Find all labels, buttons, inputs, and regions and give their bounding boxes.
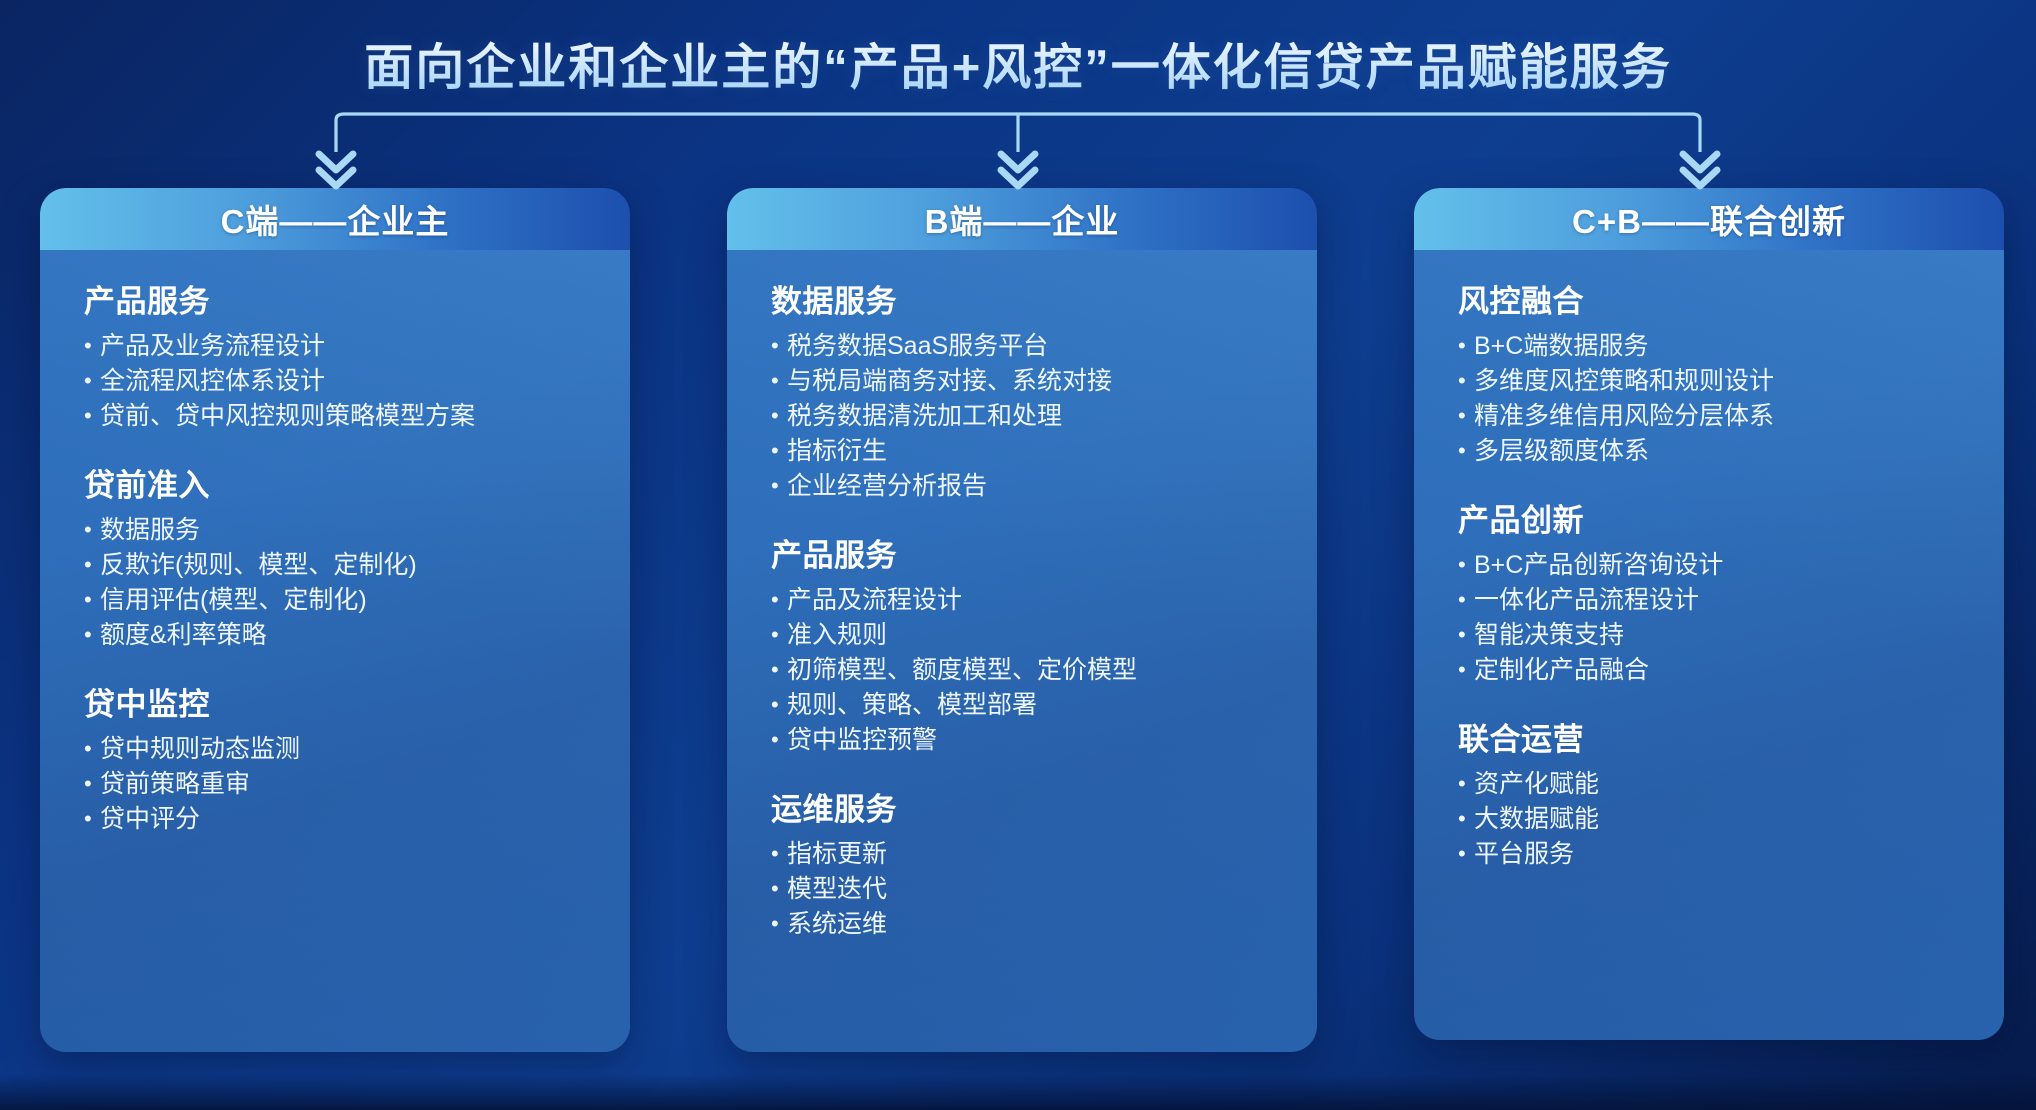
- section: 风控融合 B+C端数据服务 多维度风控策略和规则设计 精准多维信用风险分层体系 …: [1414, 276, 2004, 469]
- section: 产品创新 B+C产品创新咨询设计 一体化产品流程设计 智能决策支持 定制化产品融…: [1414, 495, 2004, 688]
- section: 数据服务 税务数据SaaS服务平台 与税局端商务对接、系统对接 税务数据清洗加工…: [727, 276, 1317, 504]
- list-item: 一体化产品流程设计: [1458, 583, 2004, 618]
- list-item: 精准多维信用风险分层体系: [1458, 399, 2004, 434]
- bullet-list: 税务数据SaaS服务平台 与税局端商务对接、系统对接 税务数据清洗加工和处理 指…: [771, 329, 1317, 504]
- card-body: 产品服务 产品及业务流程设计 全流程风控体系设计 贷前、贷中风控规则策略模型方案…: [40, 250, 630, 1052]
- list-item: 规则、策略、模型部署: [771, 688, 1317, 723]
- double-chevron-down-icon: [1679, 148, 1721, 194]
- list-item: 税务数据SaaS服务平台: [771, 329, 1317, 364]
- section-title: 风控融合: [1458, 276, 2004, 321]
- section-title: 联合运营: [1458, 714, 2004, 759]
- bullet-list: 产品及流程设计 准入规则 初筛模型、额度模型、定价模型 规则、策略、模型部署 贷…: [771, 583, 1317, 758]
- bullet-list: 数据服务 反欺诈(规则、模型、定制化) 信用评估(模型、定制化) 额度&利率策略: [84, 513, 630, 653]
- list-item: 多层级额度体系: [1458, 434, 2004, 469]
- section: 产品服务 产品及流程设计 准入规则 初筛模型、额度模型、定价模型 规则、策略、模…: [727, 530, 1317, 758]
- bullet-list: 资产化赋能 大数据赋能 平台服务: [1458, 767, 2004, 872]
- double-chevron-down-icon: [315, 148, 357, 194]
- bullet-list: B+C产品创新咨询设计 一体化产品流程设计 智能决策支持 定制化产品融合: [1458, 548, 2004, 688]
- list-item: 模型迭代: [771, 872, 1317, 907]
- list-item: 数据服务: [84, 513, 630, 548]
- card-header-title: C端——企业主: [221, 195, 450, 243]
- list-item: B+C端数据服务: [1458, 329, 2004, 364]
- list-item: 指标衍生: [771, 434, 1317, 469]
- list-item: 资产化赋能: [1458, 767, 2004, 802]
- section-title: 贷中监控: [84, 679, 630, 724]
- section-title: 数据服务: [771, 276, 1317, 321]
- list-item: 平台服务: [1458, 837, 2004, 872]
- section: 贷中监控 贷中规则动态监测 贷前策略重审 贷中评分: [40, 679, 630, 837]
- list-item: 产品及流程设计: [771, 583, 1317, 618]
- list-item: 企业经营分析报告: [771, 469, 1317, 504]
- list-item: 大数据赋能: [1458, 802, 2004, 837]
- section-title: 运维服务: [771, 784, 1317, 829]
- card-c-end: C端——企业主 产品服务 产品及业务流程设计 全流程风控体系设计 贷前、贷中风控…: [40, 188, 630, 1052]
- section-title: 贷前准入: [84, 460, 630, 505]
- card-header-title: B端——企业: [925, 195, 1120, 243]
- page-title-text: 面向企业和企业主的“产品+风控”一体化信贷产品赋能服务: [364, 28, 1672, 99]
- card-b-end: B端——企业 数据服务 税务数据SaaS服务平台 与税局端商务对接、系统对接 税…: [727, 188, 1317, 1052]
- list-item: 准入规则: [771, 618, 1317, 653]
- section: 联合运营 资产化赋能 大数据赋能 平台服务: [1414, 714, 2004, 872]
- page-title: 面向企业和企业主的“产品+风控”一体化信贷产品赋能服务: [0, 28, 2036, 99]
- list-item: 与税局端商务对接、系统对接: [771, 364, 1317, 399]
- list-item: 贷前、贷中风控规则策略模型方案: [84, 399, 630, 434]
- section: 贷前准入 数据服务 反欺诈(规则、模型、定制化) 信用评估(模型、定制化) 额度…: [40, 460, 630, 653]
- section-title: 产品服务: [84, 276, 630, 321]
- list-item: 初筛模型、额度模型、定价模型: [771, 653, 1317, 688]
- bullet-list: 贷中规则动态监测 贷前策略重审 贷中评分: [84, 732, 630, 837]
- card-cb-end: C+B——联合创新 风控融合 B+C端数据服务 多维度风控策略和规则设计 精准多…: [1414, 188, 2004, 1040]
- list-item: 贷中监控预警: [771, 723, 1317, 758]
- list-item: 额度&利率策略: [84, 618, 630, 653]
- list-item: 信用评估(模型、定制化): [84, 583, 630, 618]
- list-item: 贷前策略重审: [84, 767, 630, 802]
- bullet-list: 指标更新 模型迭代 系统运维: [771, 837, 1317, 942]
- double-chevron-down-icon: [997, 148, 1039, 194]
- section-title: 产品服务: [771, 530, 1317, 575]
- card-group: C端——企业主 产品服务 产品及业务流程设计 全流程风控体系设计 贷前、贷中风控…: [0, 188, 2036, 1068]
- list-item: 贷中规则动态监测: [84, 732, 630, 767]
- list-item: B+C产品创新咨询设计: [1458, 548, 2004, 583]
- bullet-list: B+C端数据服务 多维度风控策略和规则设计 精准多维信用风险分层体系 多层级额度…: [1458, 329, 2004, 469]
- list-item: 系统运维: [771, 907, 1317, 942]
- list-item: 产品及业务流程设计: [84, 329, 630, 364]
- card-header-title: C+B——联合创新: [1572, 195, 1846, 243]
- section: 运维服务 指标更新 模型迭代 系统运维: [727, 784, 1317, 942]
- list-item: 定制化产品融合: [1458, 653, 2004, 688]
- bullet-list: 产品及业务流程设计 全流程风控体系设计 贷前、贷中风控规则策略模型方案: [84, 329, 630, 434]
- section-title: 产品创新: [1458, 495, 2004, 540]
- list-item: 贷中评分: [84, 802, 630, 837]
- list-item: 指标更新: [771, 837, 1317, 872]
- section: 产品服务 产品及业务流程设计 全流程风控体系设计 贷前、贷中风控规则策略模型方案: [40, 276, 630, 434]
- list-item: 多维度风控策略和规则设计: [1458, 364, 2004, 399]
- list-item: 智能决策支持: [1458, 618, 2004, 653]
- card-body: 风控融合 B+C端数据服务 多维度风控策略和规则设计 精准多维信用风险分层体系 …: [1414, 250, 2004, 1040]
- card-body: 数据服务 税务数据SaaS服务平台 与税局端商务对接、系统对接 税务数据清洗加工…: [727, 250, 1317, 1052]
- list-item: 全流程风控体系设计: [84, 364, 630, 399]
- slide-root: 面向企业和企业主的“产品+风控”一体化信贷产品赋能服务 C端——企业主: [0, 0, 2036, 1110]
- list-item: 反欺诈(规则、模型、定制化): [84, 548, 630, 583]
- list-item: 税务数据清洗加工和处理: [771, 399, 1317, 434]
